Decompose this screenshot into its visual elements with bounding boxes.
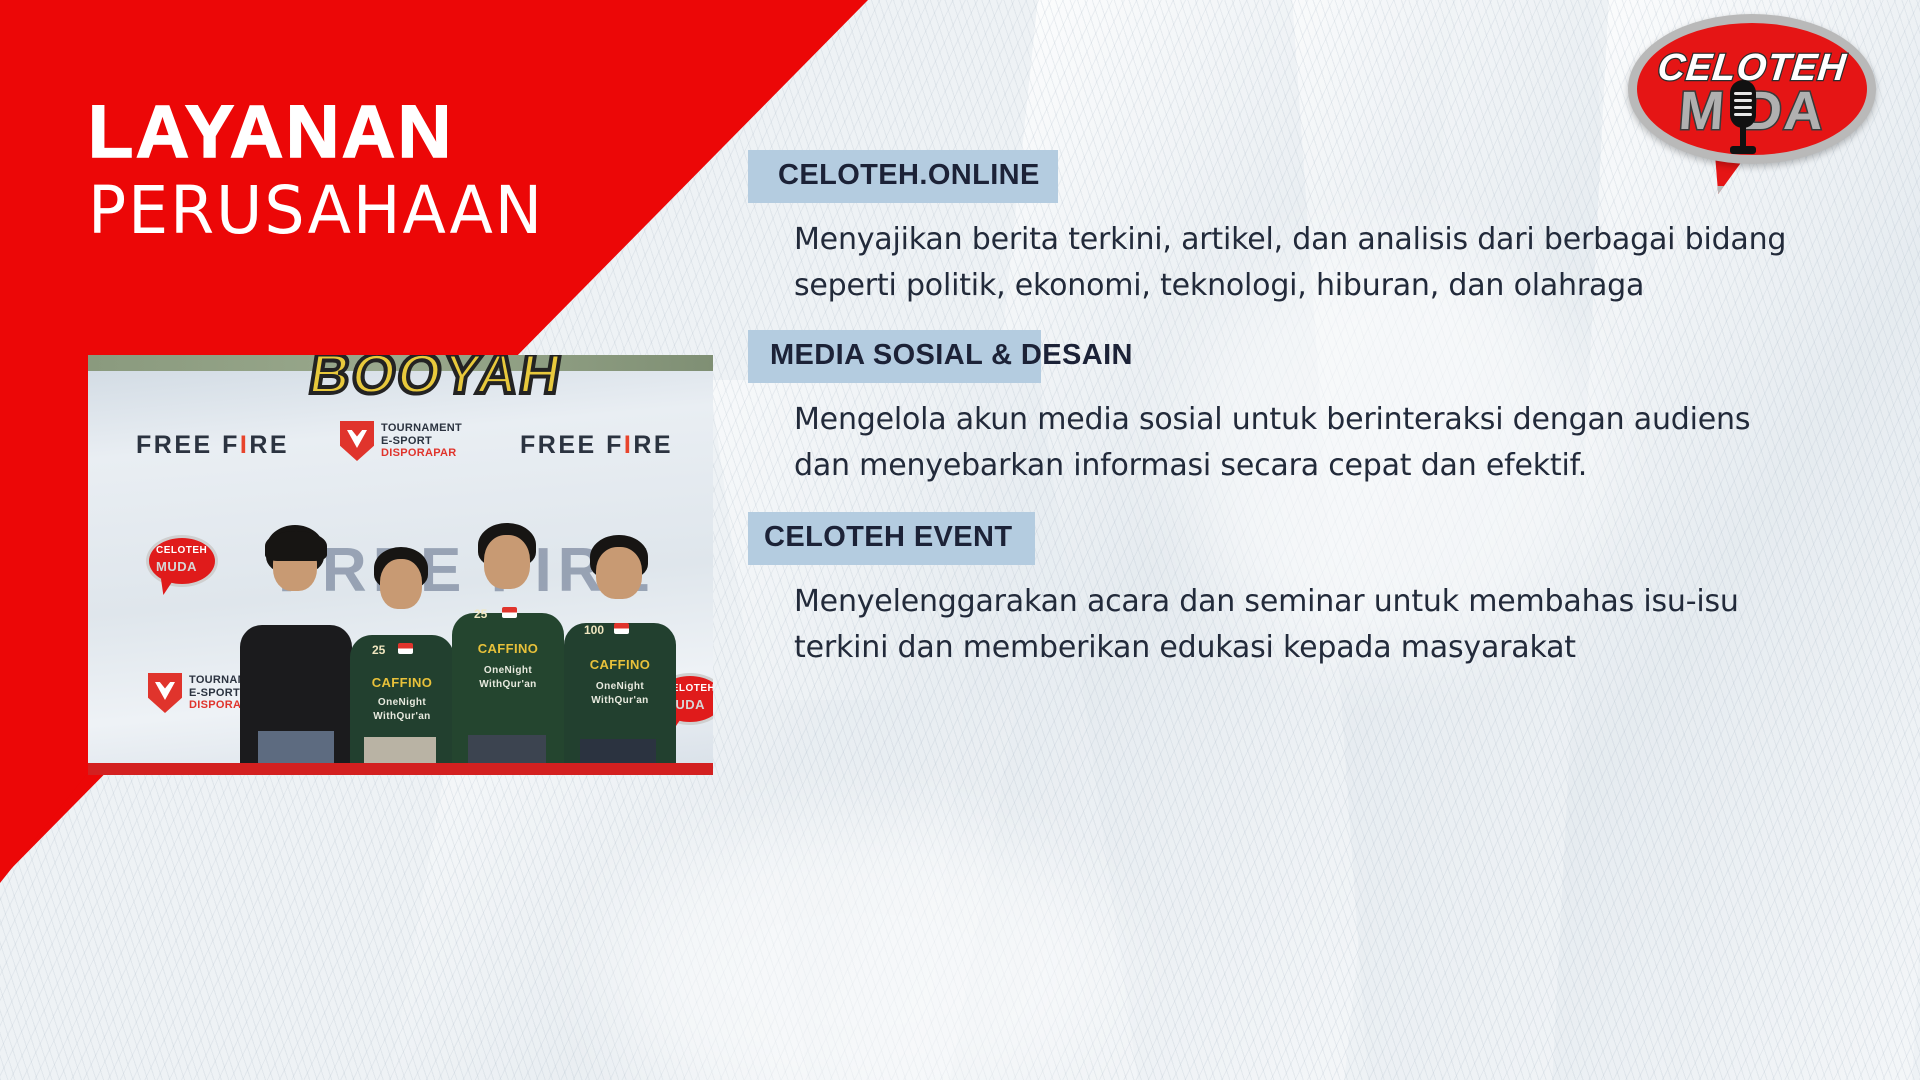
section-heading-2: MEDIA SOSIAL & DESAIN <box>770 339 1133 371</box>
service-block-2: MEDIA SOSIAL & DESAIN Mengelola akun med… <box>748 330 1858 488</box>
celoteh-muda-logo: CELOTEH M DA <box>1628 14 1896 192</box>
photo-person-1 <box>240 525 352 775</box>
service-block-3: CELOTEH EVENT Menyelenggarakan acara dan… <box>748 512 1858 670</box>
photo-person-4: 100 CAFFINO OneNight WithQur'an <box>564 535 676 775</box>
shield-icon <box>340 421 374 461</box>
page-title-main: LAYANAN <box>88 96 563 169</box>
section-body-1: Menyajikan berita terkini, artikel, dan … <box>794 217 1794 308</box>
section-heading-band-3: CELOTEH EVENT <box>748 512 1035 565</box>
section-heading-band-1: CELOTEH.ONLINE <box>748 150 1058 203</box>
photo-person-3: 25 CAFFINO OneNight WithQur'an <box>452 523 564 775</box>
backdrop-celoteh-logo: CELOTEH MUDA <box>146 535 218 587</box>
section-body-2: Mengelola akun media sosial untuk berint… <box>794 397 1794 488</box>
section-heading-1: CELOTEH.ONLINE <box>778 159 1040 191</box>
section-heading-band-2: MEDIA SOSIAL & DESAIN <box>748 330 1041 383</box>
backdrop-tournament-logo-top: TOURNAMENT E-SPORT DISPORAPAR <box>340 421 462 461</box>
shield-icon <box>148 673 182 713</box>
photo-bottom-red-strip <box>88 763 713 775</box>
section-body-3: Menyelenggarakan acara dan seminar untuk… <box>794 579 1794 670</box>
tournament-text: TOURNAMENT E-SPORT DISPORAPAR <box>381 422 462 461</box>
photo-person-2: 25 CAFFINO OneNight WithQur'an <box>350 547 454 775</box>
backdrop-freefire-right: FREE FIRE <box>520 431 673 460</box>
backdrop-booyah-text: BOOYAH <box>305 355 568 406</box>
microphone-icon <box>1728 80 1758 158</box>
page-title-sub: PERUSAHAAN <box>88 175 544 246</box>
slide-title: LAYANAN PERUSAHAAN <box>88 96 563 246</box>
event-photo: BOOYAH FREE FIRE FREE FIRE FREE FIRE TOU… <box>88 355 713 775</box>
section-heading-3: CELOTEH EVENT <box>764 521 1013 553</box>
slide-canvas: LAYANAN PERUSAHAAN BOOYAH FREE FIRE FREE… <box>0 0 1920 1080</box>
backdrop-freefire-left: FREE FIRE <box>136 431 289 460</box>
services-list: CELOTEH.ONLINE Menyajikan berita terkini… <box>748 150 1858 675</box>
